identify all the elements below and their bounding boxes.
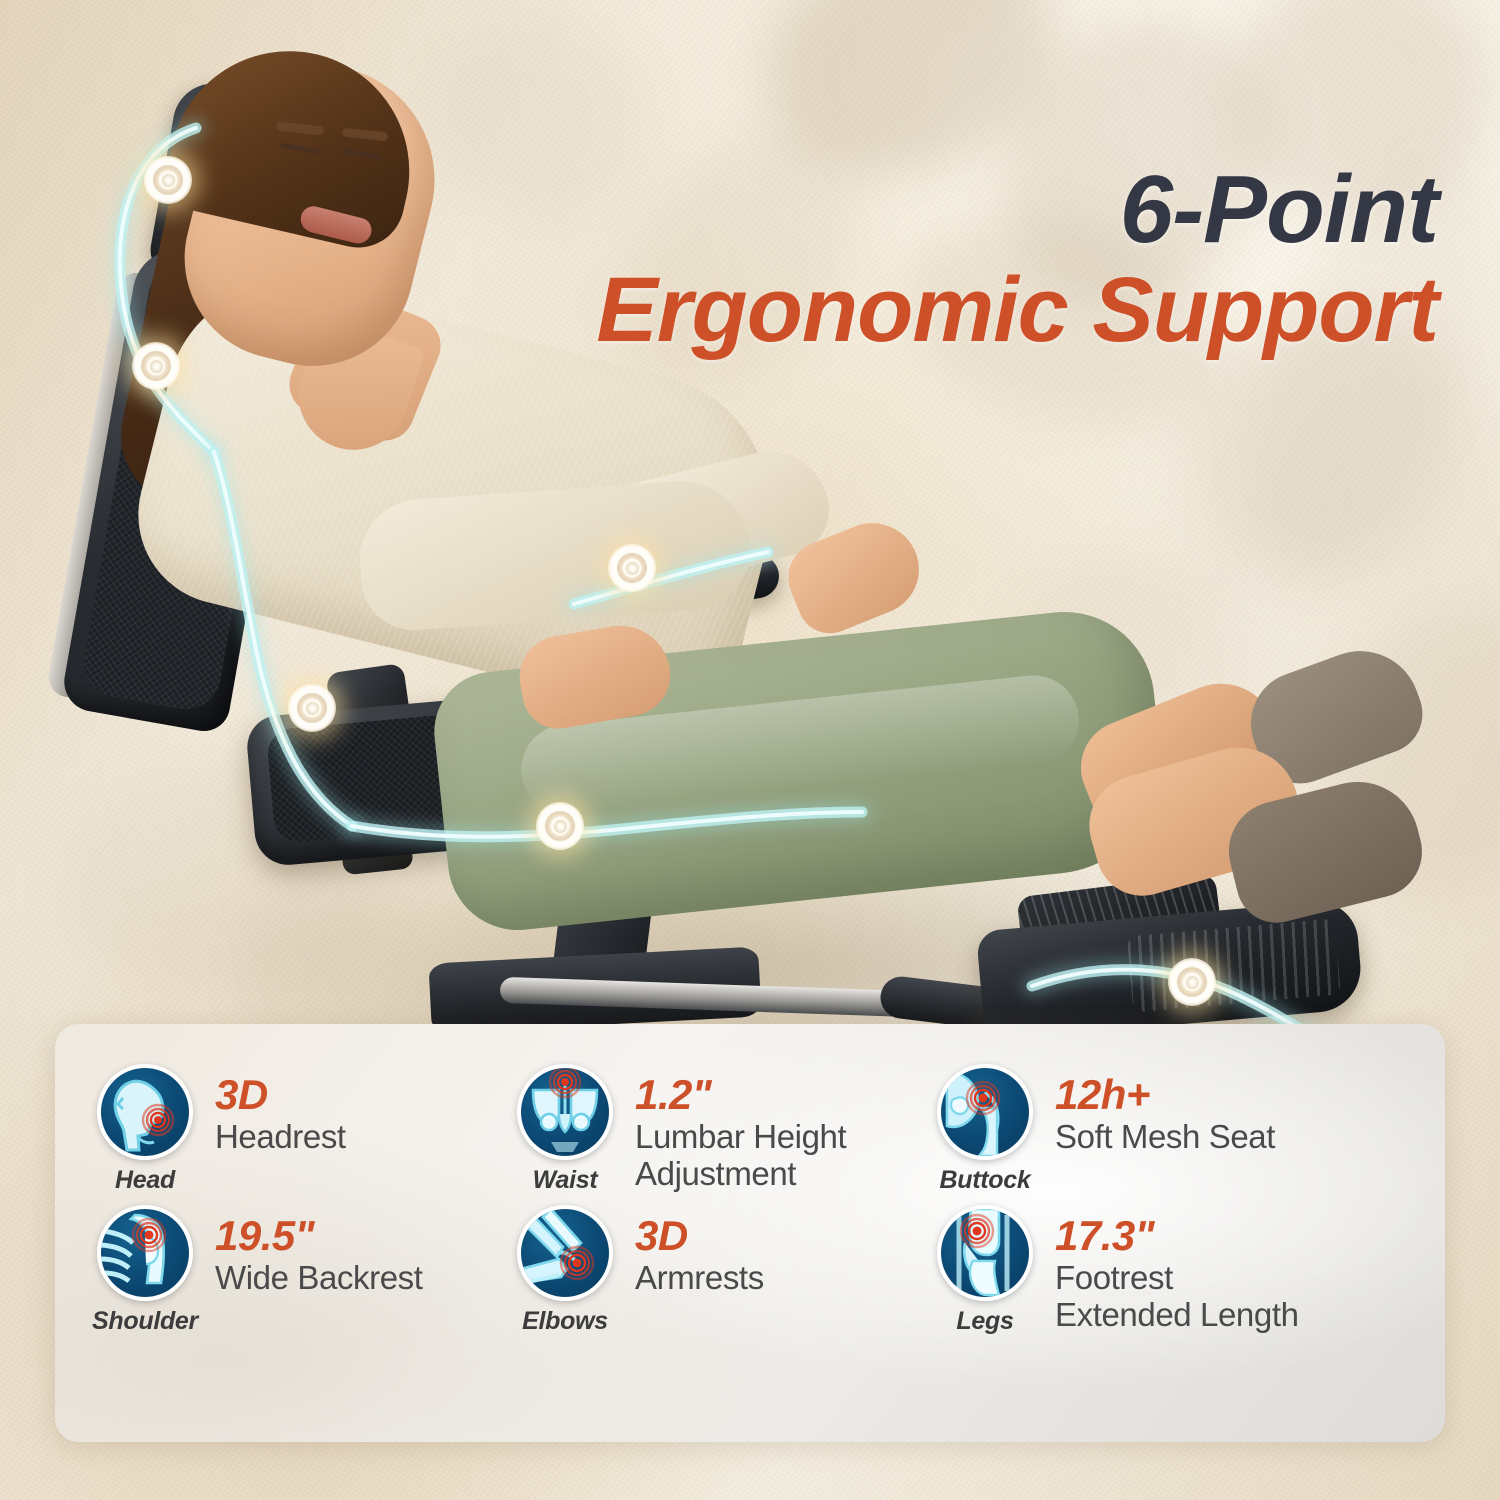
feature-elbows-stat: 3D [635, 1215, 764, 1258]
feature-buttock-part-label: Buttock [929, 1166, 1041, 1195]
feature-elbows-part-label: Elbows [509, 1307, 621, 1336]
feature-head-stat: 3D [215, 1074, 346, 1117]
feature-legs-text: 17.3" Footrest Extended Length [1041, 1205, 1299, 1333]
feature-head: Head 3D Headrest [89, 1064, 509, 1195]
product-feature-graphic: 6-Point Ergonomic Support [0, 0, 1500, 1500]
feature-shoulder-icon-wrap: Shoulder [89, 1205, 201, 1336]
waist-marker[interactable] [288, 684, 336, 732]
headline-line-1: 6-Point [596, 160, 1438, 260]
feature-head-text: 3D Headrest [201, 1064, 346, 1155]
feature-legs-part-label: Legs [929, 1307, 1041, 1336]
feature-buttock-stat: 12h+ [1055, 1074, 1275, 1117]
knee-xray-icon [937, 1205, 1033, 1301]
feature-waist-icon-wrap: Waist [509, 1064, 621, 1195]
feature-waist-part-label: Waist [509, 1166, 621, 1195]
feature-head-icon-wrap: Head [89, 1064, 201, 1195]
feature-waist-stat: 1.2" [635, 1074, 846, 1117]
feature-waist-desc: Lumbar Height Adjustment [635, 1118, 846, 1193]
feature-buttock-text: 12h+ Soft Mesh Seat [1041, 1064, 1275, 1155]
feature-legs-stat: 17.3" [1055, 1215, 1299, 1258]
legs-marker[interactable] [1168, 958, 1216, 1006]
feature-head-desc: Headrest [215, 1118, 346, 1155]
feature-shoulder-part-label: Shoulder [89, 1307, 201, 1336]
feature-elbows: Elbows 3D Armrests [509, 1205, 929, 1336]
feature-legs-desc: Footrest Extended Length [1055, 1259, 1299, 1334]
model-arm-near [356, 477, 754, 634]
headline-block: 6-Point Ergonomic Support [596, 160, 1438, 358]
shoulder-xray-icon [97, 1205, 193, 1301]
feature-elbows-text: 3D Armrests [621, 1205, 764, 1296]
feature-shoulder-stat: 19.5" [215, 1215, 423, 1258]
feature-waist-text: 1.2" Lumbar Height Adjustment [621, 1064, 846, 1192]
feature-waist: Waist 1.2" Lumbar Height Adjustment [509, 1064, 929, 1195]
hip-joint-xray-icon [937, 1064, 1033, 1160]
pelvis-xray-icon [517, 1064, 613, 1160]
feature-shoulder: Shoulder 19.5" Wide Backrest [89, 1205, 509, 1336]
feature-buttock: Buttock 12h+ Soft Mesh Seat [929, 1064, 1411, 1195]
headline-line-2: Ergonomic Support [596, 262, 1438, 359]
feature-legs-icon-wrap: Legs [929, 1205, 1041, 1336]
feature-panel: Head 3D Headrest [55, 1024, 1445, 1442]
head-xray-icon [97, 1064, 193, 1160]
elbow-xray-icon [517, 1205, 613, 1301]
feature-shoulder-desc: Wide Backrest [215, 1259, 423, 1296]
head-marker[interactable] [144, 156, 192, 204]
buttock-marker[interactable] [536, 802, 584, 850]
feature-head-part-label: Head [89, 1166, 201, 1195]
feature-elbows-desc: Armrests [635, 1259, 764, 1296]
feature-elbows-icon-wrap: Elbows [509, 1205, 621, 1336]
feature-buttock-desc: Soft Mesh Seat [1055, 1118, 1275, 1155]
feature-shoulder-text: 19.5" Wide Backrest [201, 1205, 423, 1296]
feature-grid: Head 3D Headrest [89, 1064, 1411, 1336]
feature-legs: Legs 17.3" Footrest Extended Length [929, 1205, 1411, 1336]
elbow-marker[interactable] [608, 544, 656, 592]
feature-buttock-icon-wrap: Buttock [929, 1064, 1041, 1195]
shoulder-marker[interactable] [132, 342, 180, 390]
